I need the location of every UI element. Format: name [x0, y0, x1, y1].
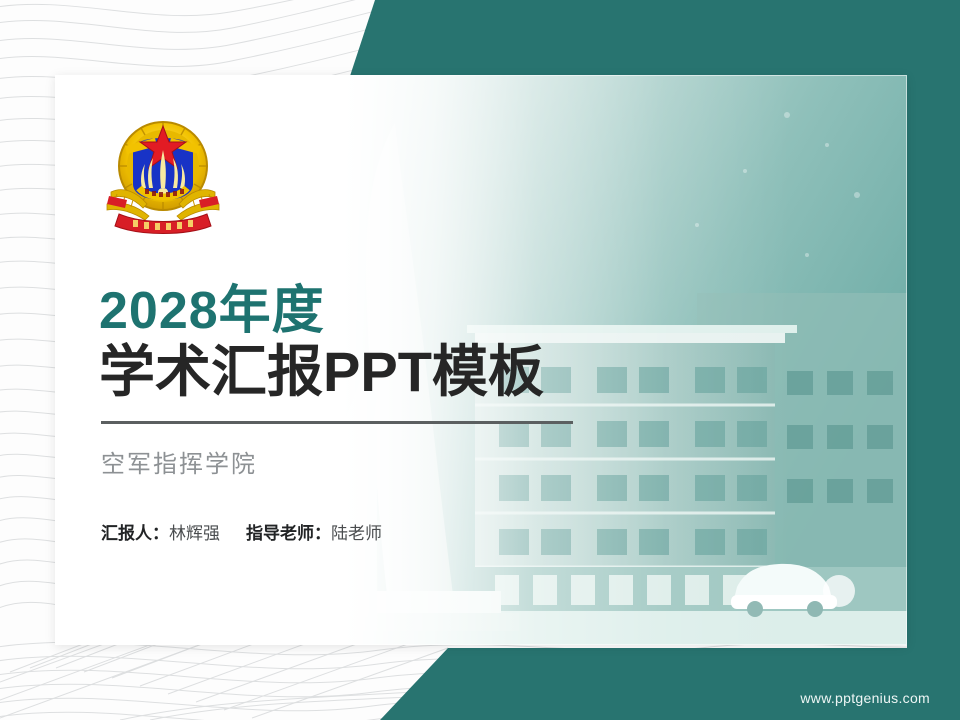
title-text-block: 2028年度 学术汇报PPT模板 空军指挥学院 汇报人：林辉强指导老师：陆老师 [99, 285, 573, 544]
school-name: 空军指挥学院 [101, 444, 573, 479]
presenter-info: 汇报人：林辉强指导老师：陆老师 [101, 519, 573, 544]
school-emblem [99, 108, 227, 236]
title-divider [101, 421, 573, 424]
presentation-slide: 2028年度 学术汇报PPT模板 空军指挥学院 汇报人：林辉强指导老师：陆老师 … [0, 0, 960, 720]
page-title: 学术汇报PPT模板 [99, 342, 573, 402]
advisor-name: 陆老师 [331, 524, 382, 543]
advisor-label: 指导老师： [246, 524, 331, 543]
presenter-label: 汇报人： [101, 524, 169, 543]
title-year: 2028年度 [99, 285, 573, 338]
presenter-name: 林辉强 [169, 524, 220, 543]
footer-website-url[interactable]: www.pptgenius.com [800, 690, 930, 706]
slide-content-card: 2028年度 学术汇报PPT模板 空军指挥学院 汇报人：林辉强指导老师：陆老师 [55, 75, 907, 645]
